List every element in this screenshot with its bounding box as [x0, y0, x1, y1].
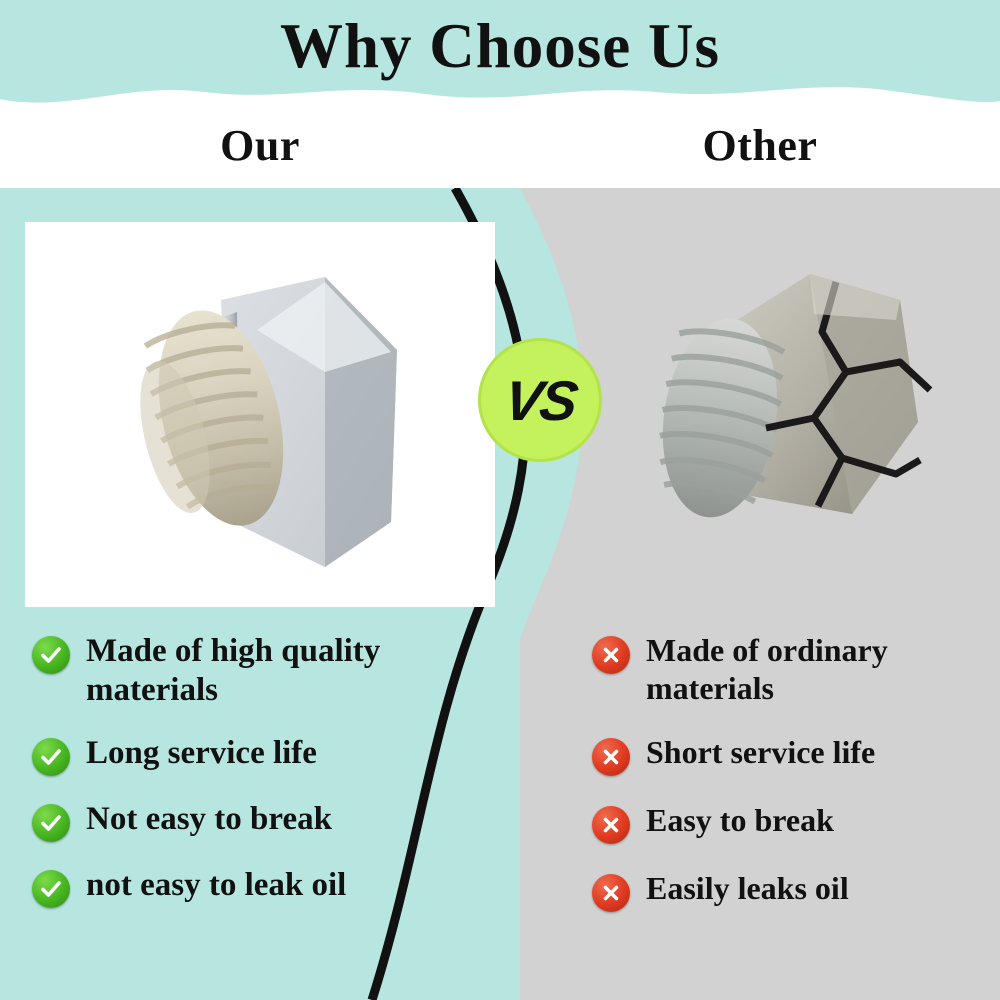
column-header-other: Other — [630, 120, 890, 171]
feature-text: Easily leaks oil — [646, 870, 849, 908]
comparison-infographic: Why Choose Us Our Other — [0, 0, 1000, 1000]
list-item: Made of high quality materials — [32, 632, 502, 710]
feature-text: Not easy to break — [86, 800, 332, 839]
vs-badge: VS — [478, 338, 602, 462]
column-header-our: Our — [130, 120, 390, 171]
cross-icon — [592, 874, 630, 912]
product-image-our — [25, 222, 495, 607]
list-item: Made of ordinary materials — [592, 632, 992, 708]
check-icon — [32, 804, 70, 842]
check-icon — [32, 870, 70, 908]
vs-label: VS — [500, 368, 580, 433]
bolt-other-illustration — [600, 222, 990, 607]
list-item: Short service life — [592, 734, 992, 776]
bolt-our-illustration — [25, 222, 495, 607]
list-item: Not easy to break — [32, 800, 502, 842]
feature-text: Made of high quality materials — [86, 632, 502, 710]
cross-icon — [592, 738, 630, 776]
cross-icon — [592, 806, 630, 844]
feature-text: Long service life — [86, 734, 317, 773]
check-icon — [32, 738, 70, 776]
list-item: Long service life — [32, 734, 502, 776]
banner-wave-decoration — [0, 80, 1000, 110]
feature-list-our: Made of high quality materials Long serv… — [32, 632, 502, 932]
list-item: Easily leaks oil — [592, 870, 992, 912]
feature-text: not easy to leak oil — [86, 866, 346, 905]
header-banner: Why Choose Us — [0, 0, 1000, 110]
feature-text: Short service life — [646, 734, 875, 772]
column-headers: Our Other — [0, 112, 1000, 188]
product-image-other — [600, 222, 990, 607]
list-item: Easy to break — [592, 802, 992, 844]
check-icon — [32, 636, 70, 674]
cross-icon — [592, 636, 630, 674]
feature-text: Made of ordinary materials — [646, 632, 992, 708]
list-item: not easy to leak oil — [32, 866, 502, 908]
feature-text: Easy to break — [646, 802, 834, 840]
page-title: Why Choose Us — [0, 10, 1000, 83]
feature-list-other: Made of ordinary materials Short service… — [592, 632, 992, 938]
